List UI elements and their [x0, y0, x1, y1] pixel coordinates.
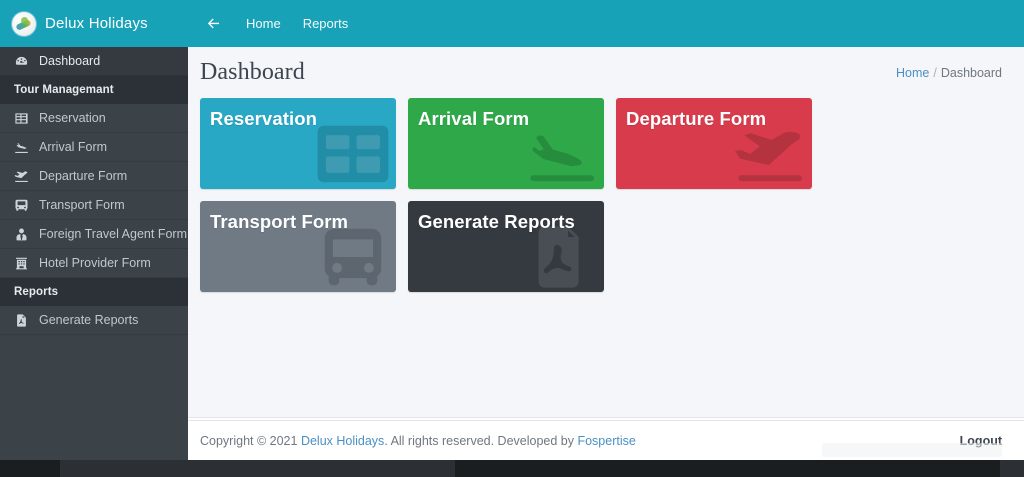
sidebar-item-dashboard-label: Dashboard [39, 54, 100, 68]
card-arrival-form[interactable]: Arrival Form [408, 98, 604, 189]
taskbar-window-button[interactable] [60, 460, 455, 477]
sidebar-item-arrival-form[interactable]: Arrival Form [0, 133, 188, 162]
sidebar-section-tour-management-label: Tour Managemant [14, 84, 114, 96]
brand-title: Delux Holidays [45, 15, 148, 32]
sidebar-item-departure-form[interactable]: Departure Form [0, 162, 188, 191]
breadcrumb: Home/Dashboard [896, 66, 1002, 80]
sidebar-item-dashboard[interactable]: Dashboard [0, 47, 188, 76]
card-generate-reports[interactable]: Generate Reports [408, 201, 604, 292]
sidebar-item-transport-form-label: Transport Form [39, 198, 125, 212]
footer-developer-link[interactable]: Fospertise [577, 434, 635, 448]
content-header: Dashboard Home/Dashboard [188, 47, 1024, 86]
sidebar-item-foreign-travel-agent-form-label: Foreign Travel Agent Form [39, 227, 187, 241]
sidebar-item-generate-reports-label: Generate Reports [39, 313, 138, 327]
sidebar-section-reports-label: Reports [14, 286, 58, 298]
card-reservation-title: Reservation [200, 98, 396, 129]
file-pdf-icon [522, 224, 600, 290]
sidebar-item-reservation-label: Reservation [39, 111, 106, 125]
plane-arrival-icon [522, 121, 600, 187]
card-transport-form[interactable]: Transport Form [200, 201, 396, 292]
tachometer-icon [14, 54, 29, 69]
sidebar-item-generate-reports[interactable]: Generate Reports [0, 306, 188, 335]
card-departure-form-title: Departure Form [616, 98, 812, 129]
breadcrumb-link-home[interactable]: Home [896, 66, 929, 80]
sidebar-item-departure-form-label: Departure Form [39, 169, 127, 183]
os-taskbar[interactable] [0, 460, 1024, 477]
sidebar-item-transport-form[interactable]: Transport Form [0, 191, 188, 220]
taskbar-tray[interactable] [1000, 460, 1024, 477]
footer-copyright: Copyright © 2021 Delux Holidays. All rig… [200, 434, 636, 448]
card-generate-reports-title: Generate Reports [408, 201, 604, 232]
breadcrumb-separator: / [933, 66, 936, 80]
card-transport-form-title: Transport Form [200, 201, 396, 232]
bus-icon [314, 224, 392, 290]
card-arrival-form-title: Arrival Form [408, 98, 604, 129]
plane-arrival-icon [14, 140, 29, 155]
sidebar-item-hotel-provider-form-label: Hotel Provider Form [39, 256, 151, 270]
sidebar-item-reservation[interactable]: Reservation [0, 104, 188, 133]
hotel-icon [14, 256, 29, 271]
sidebar: Delux Holidays Dashboard Tour Managemant… [0, 0, 188, 460]
sidebar-item-arrival-form-label: Arrival Form [39, 140, 107, 154]
globe-compass-logo-icon [12, 12, 36, 36]
screen: Delux Holidays Dashboard Tour Managemant… [0, 0, 1024, 477]
arrow-left-icon[interactable] [202, 13, 224, 35]
footer-company-link[interactable]: Delux Holidays [301, 434, 384, 448]
sidebar-item-foreign-travel-agent-form[interactable]: Foreign Travel Agent Form [0, 220, 188, 249]
navbar-link-reports[interactable]: Reports [303, 16, 349, 31]
table-grid-icon [314, 121, 392, 187]
sidebar-item-hotel-provider-form[interactable]: Hotel Provider Form [0, 249, 188, 278]
footer-overlay-artifact [822, 443, 1002, 457]
brand[interactable]: Delux Holidays [0, 0, 188, 47]
plane-departure-icon [14, 169, 29, 184]
sidebar-section-tour-management: Tour Managemant [0, 76, 188, 104]
top-navbar: Home Reports [188, 0, 1024, 47]
sidebar-section-reports: Reports [0, 278, 188, 306]
file-pdf-icon [14, 313, 29, 328]
card-departure-form[interactable]: Departure Form [616, 98, 812, 189]
page-title: Dashboard [200, 59, 305, 86]
bus-icon [14, 198, 29, 213]
footer-copyright-prefix: Copyright © 2021 [200, 434, 301, 448]
footer-rights-text: . All rights reserved. Developed by [384, 434, 577, 448]
user-tie-icon [14, 227, 29, 242]
card-reservation[interactable]: Reservation [200, 98, 396, 189]
dashboard-cards: Reservation Arrival Form Departure Form … [188, 86, 1024, 292]
navbar-link-home[interactable]: Home [246, 16, 281, 31]
breadcrumb-current: Dashboard [941, 66, 1002, 80]
plane-departure-icon [730, 121, 808, 187]
main-content: Home Reports Dashboard Home/Dashboard Re… [188, 0, 1024, 460]
table-grid-icon [14, 111, 29, 126]
